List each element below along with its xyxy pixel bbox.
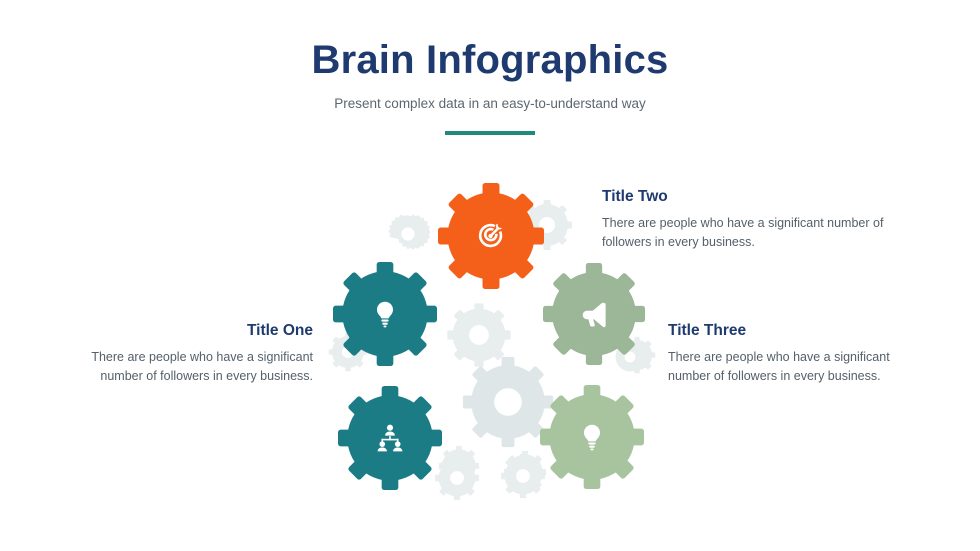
item-two-body: There are people who have a significant … [602, 214, 887, 253]
item-three-body: There are people who have a significant … [668, 348, 893, 387]
slide-header: Brain Infographics Present complex data … [0, 38, 980, 111]
decorative-gear-10 [500, 453, 546, 499]
slide-canvas: Brain Infographics Present complex data … [0, 0, 980, 551]
item-two-title: Title Two [602, 188, 887, 206]
decorative-gear-1 [386, 212, 430, 256]
gear-bulb-green[interactable] [540, 385, 644, 489]
item-one-body: There are people who have a significant … [60, 348, 313, 387]
decorative-gear-9 [434, 455, 480, 501]
item-three: Title Three There are people who have a … [668, 322, 893, 387]
gear-target[interactable] [438, 183, 544, 289]
item-two: Title Two There are people who have a si… [602, 188, 887, 253]
item-one-title: Title One [60, 322, 313, 340]
gear-bulb-teal[interactable] [333, 262, 437, 366]
page-subtitle: Present complex data in an easy-to-under… [0, 96, 980, 111]
item-one: Title One There are people who have a si… [60, 322, 313, 387]
gear-megaphone[interactable] [543, 263, 645, 365]
page-title: Brain Infographics [0, 38, 980, 82]
item-three-title: Title Three [668, 322, 893, 340]
gear-team[interactable] [338, 386, 442, 490]
title-divider [445, 131, 535, 135]
